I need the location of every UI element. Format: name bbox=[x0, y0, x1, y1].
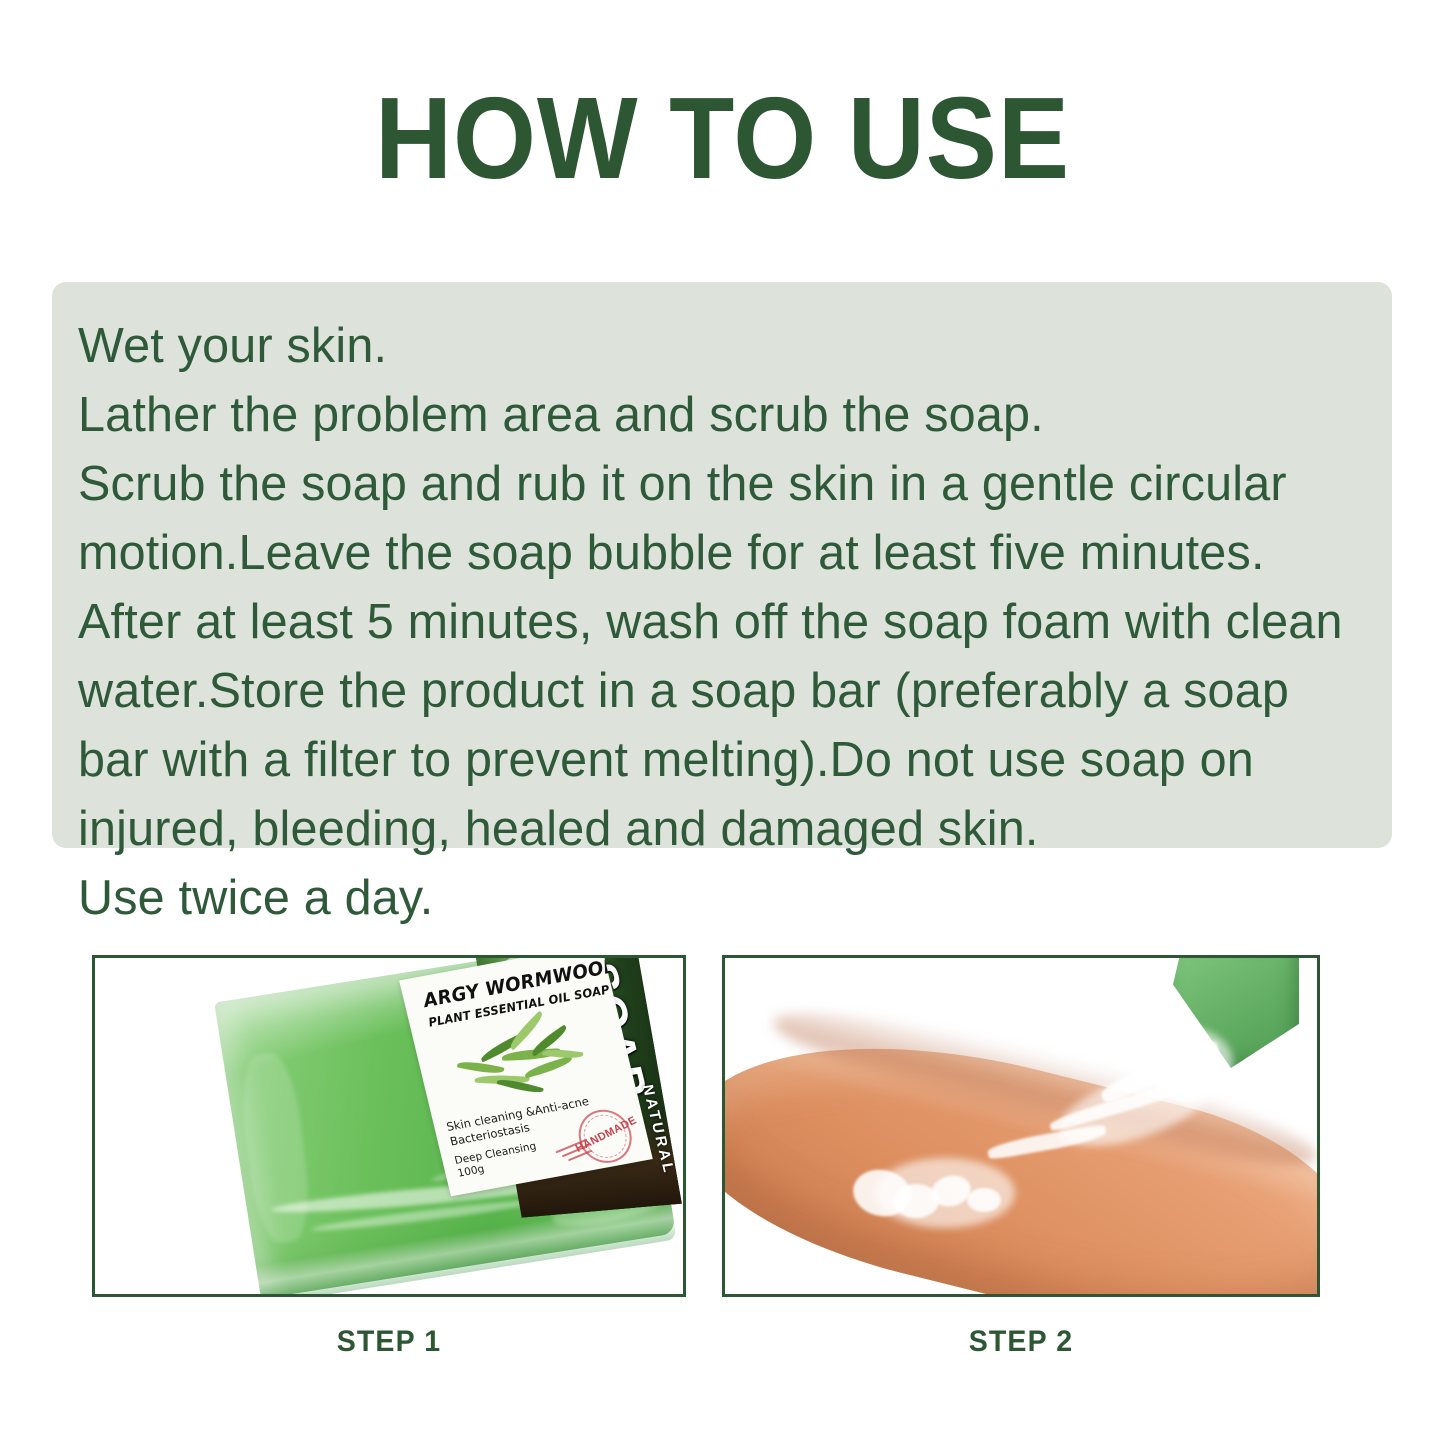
step-1-block: SOAP NATURAL ARGY WORMWOOD PLANT ESSENTI… bbox=[92, 955, 686, 1359]
step-1-caption: STEP 1 bbox=[107, 1325, 671, 1359]
instructions-text: Wet your skin. Lather the problem area a… bbox=[78, 312, 1444, 933]
step-2-image-frame bbox=[722, 955, 1320, 1297]
steps-row: SOAP NATURAL ARGY WORMWOOD PLANT ESSENTI… bbox=[0, 955, 1445, 1395]
step-2-block: STEP 2 bbox=[722, 955, 1320, 1359]
arm-application-image bbox=[725, 958, 1317, 1294]
soap-bar: SOAP NATURAL ARGY WORMWOOD PLANT ESSENTI… bbox=[214, 955, 676, 1297]
step-1-image-frame: SOAP NATURAL ARGY WORMWOOD PLANT ESSENTI… bbox=[92, 955, 686, 1297]
step-2-caption: STEP 2 bbox=[737, 1325, 1305, 1359]
lather-haze bbox=[1143, 1028, 1233, 1098]
page-title: HOW TO USE bbox=[58, 78, 1387, 198]
lather-haze bbox=[875, 1158, 1015, 1228]
soap-product-image: SOAP NATURAL ARGY WORMWOOD PLANT ESSENTI… bbox=[95, 958, 683, 1294]
